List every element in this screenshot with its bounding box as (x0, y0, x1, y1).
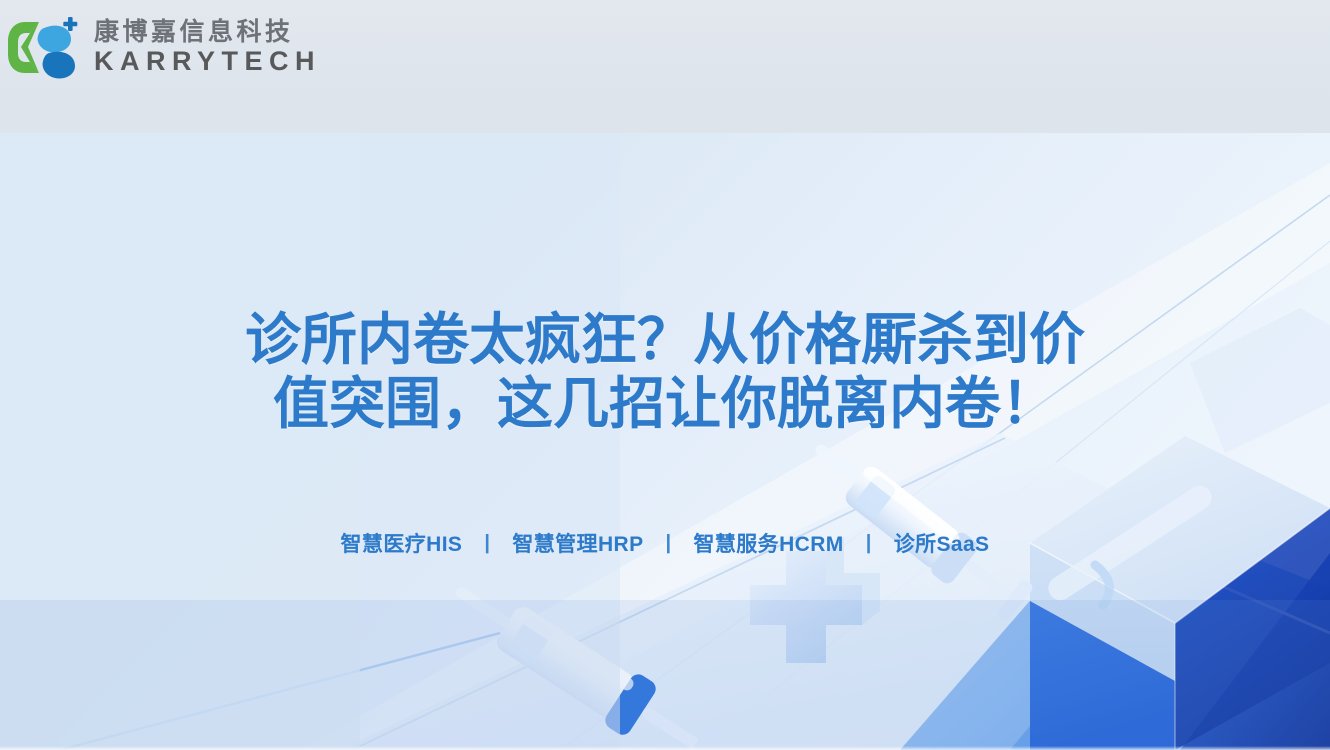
tag-separator: | (462, 532, 512, 555)
header-bar: 康博嘉信息科技 KARRYTECH (0, 0, 1330, 133)
brand-text: 康博嘉信息科技 KARRYTECH (94, 18, 321, 76)
title-line-1: 诊所内卷太疯狂？从价格厮杀到价 (0, 308, 1330, 372)
brand-name-cn: 康博嘉信息科技 (94, 18, 321, 46)
tag-separator: | (643, 532, 693, 555)
page-title: 诊所内卷太疯狂？从价格厮杀到价 值突围，这几招让你脱离内卷！ (0, 308, 1330, 436)
tag-clinic-saas: 诊所SaaS (894, 528, 990, 558)
tag-separator: | (844, 532, 894, 555)
bottom-hairline (0, 746, 1330, 750)
tag-hcrm: 智慧服务HCRM (693, 528, 843, 558)
brand-lockup[interactable]: 康博嘉信息科技 KARRYTECH (8, 14, 321, 80)
title-line-2: 值突围，这几招让你脱离内卷！ (0, 372, 1330, 436)
product-tag-list: 智慧医疗HIS | 智慧管理HRP | 智慧服务HCRM | 诊所SaaS (0, 528, 1330, 558)
promo-banner: 诊所内卷太疯狂？从价格厮杀到价 值突围，这几招让你脱离内卷！ 智慧医疗HIS |… (0, 0, 1330, 750)
tag-hrp: 智慧管理HRP (512, 528, 643, 558)
brand-name-en: KARRYTECH (94, 46, 321, 76)
hero-content: 诊所内卷太疯狂？从价格厮杀到价 值突围，这几招让你脱离内卷！ 智慧医疗HIS |… (0, 133, 1330, 750)
tag-his: 智慧医疗HIS (341, 528, 463, 558)
karrytech-logo-icon (8, 14, 82, 80)
